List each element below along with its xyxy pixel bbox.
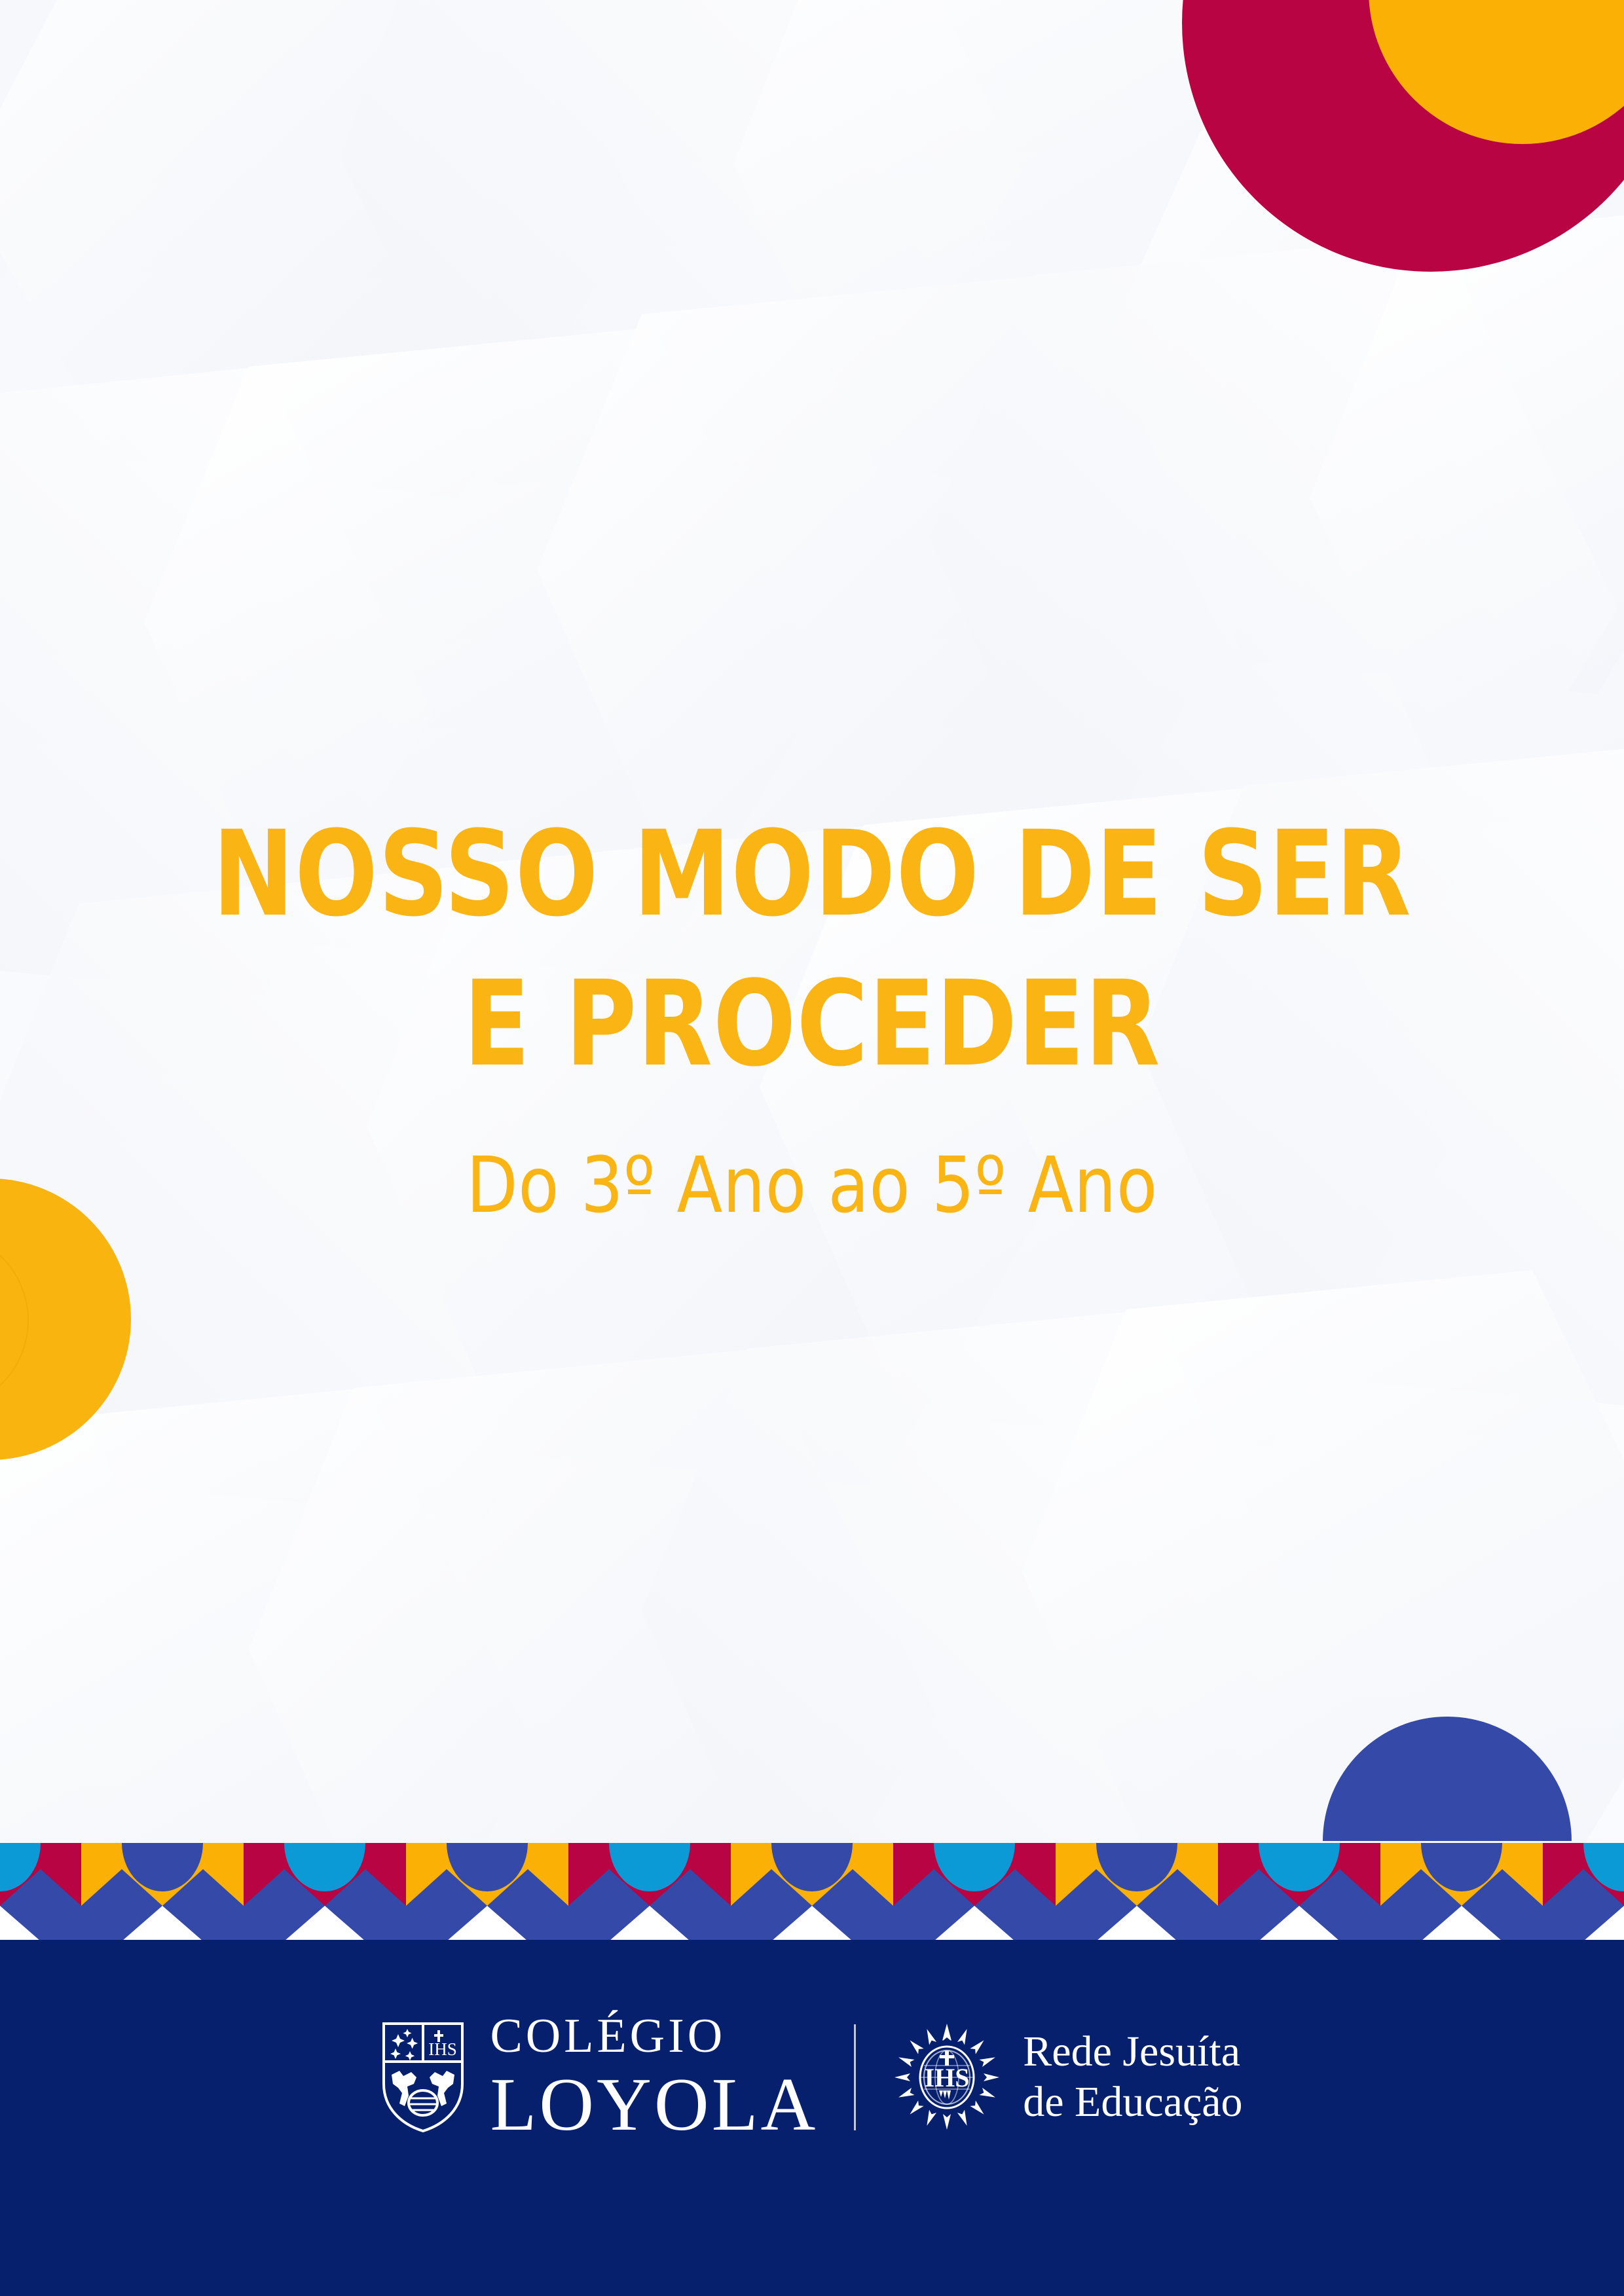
- loyola-line-2: LOYOLA: [490, 2067, 818, 2143]
- page-subtitle: Do 3º Ano ao 5º Ano: [127, 1140, 1498, 1230]
- footer-logo-group: IHS COLÉGIO LOYOLA: [0, 2012, 1624, 2143]
- ihs-monogram: IHS: [925, 2063, 970, 2092]
- rje-line-1: Rede Jesuíta: [1023, 2027, 1242, 2077]
- title-line-1: NOSSO MODO DE SER: [155, 800, 1469, 950]
- rede-jesuita-de-educacao-logo: IHS Rede Jesuíta de Educação: [892, 2022, 1242, 2132]
- logo-divider: [854, 2024, 856, 2130]
- loyola-wordmark: COLÉGIO LOYOLA: [490, 2012, 818, 2143]
- cover-page: NOSSO MODO DE SER E PROCEDER Do 3º Ano a…: [0, 0, 1624, 2296]
- title-line-2: E PROCEDER: [155, 950, 1469, 1100]
- colegio-loyola-logo: IHS COLÉGIO LOYOLA: [381, 2012, 818, 2143]
- jesuit-arch-chevron-pattern: [0, 1843, 1624, 1941]
- footer-bar: IHS COLÉGIO LOYOLA: [0, 1940, 1624, 2296]
- loyola-crest-icon: IHS: [381, 2021, 465, 2134]
- page-title: NOSSO MODO DE SER E PROCEDER Do 3º Ano a…: [0, 800, 1624, 1230]
- rje-line-2: de Educação: [1023, 2077, 1242, 2128]
- ihs-sunburst-icon: IHS: [892, 2022, 1002, 2132]
- loyola-line-1: COLÉGIO: [490, 2012, 818, 2060]
- rje-wordmark: Rede Jesuíta de Educação: [1023, 2027, 1242, 2127]
- svg-text:IHS: IHS: [429, 2039, 458, 2059]
